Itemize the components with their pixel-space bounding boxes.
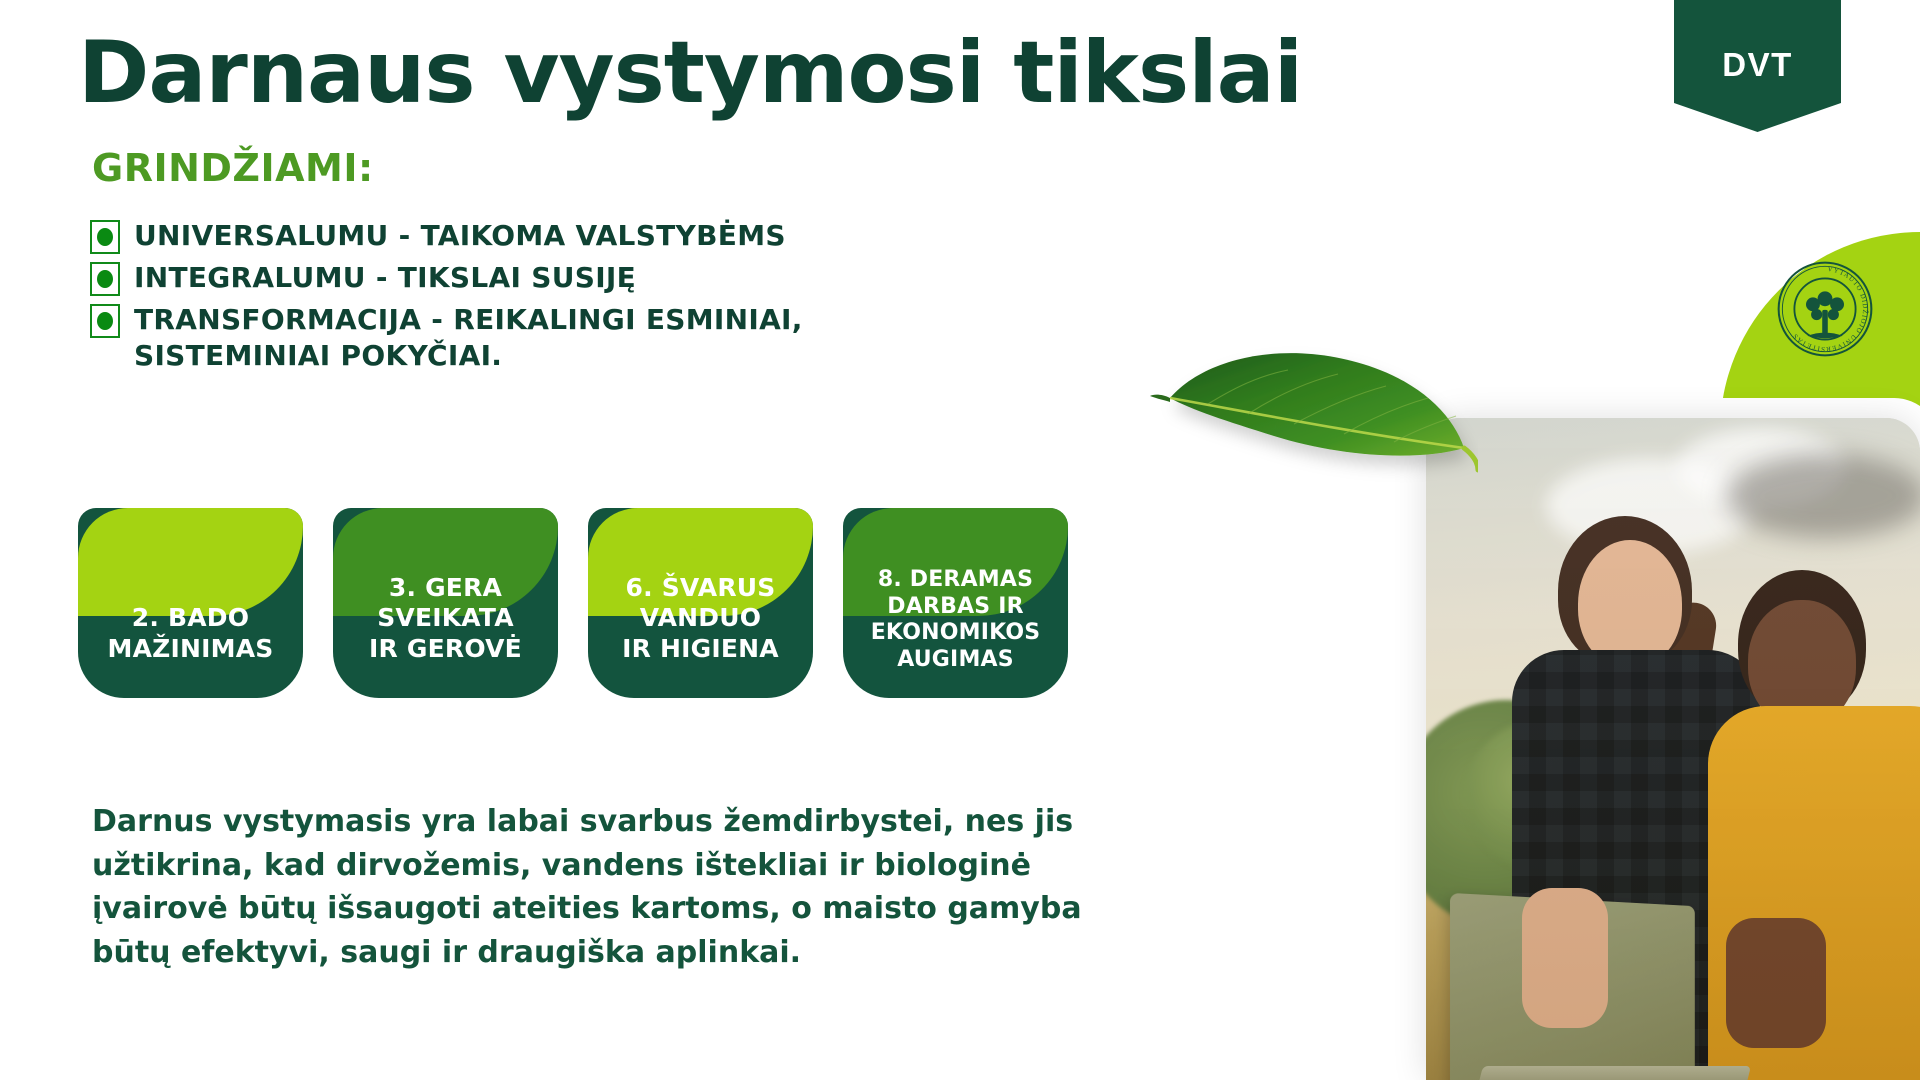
- goal-card-2[interactable]: 2. BADO MAŽINIMAS: [78, 508, 303, 698]
- list-item: TRANSFORMACIJA - REIKALINGI ESMINIAI, SI…: [90, 302, 990, 374]
- goal-card-3[interactable]: 3. GERA SVEIKATA IR GEROVĖ: [333, 508, 558, 698]
- body-paragraph: Darnus vystymasis yra labai svarbus žemd…: [92, 800, 1082, 974]
- photo-light-overlay: [1426, 418, 1920, 1080]
- goal-card-label: 6. ŠVARUS VANDUO IR HIGIENA: [588, 573, 813, 699]
- list-item-label: INTEGRALUMU - TIKSLAI SUSIJĘ: [134, 260, 636, 296]
- goal-card-label: 3. GERA SVEIKATA IR GEROVĖ: [333, 573, 558, 699]
- goal-card-6[interactable]: 6. ŠVARUS VANDUO IR HIGIENA: [588, 508, 813, 698]
- page-subtitle: GRINDŽIAMI:: [92, 146, 374, 190]
- list-item: INTEGRALUMU - TIKSLAI SUSIJĘ: [90, 260, 990, 296]
- goal-card-label: 2. BADO MAŽINIMAS: [78, 603, 303, 698]
- goal-card-label: 8. DERAMAS DARBAS IR EKONOMIKOS AUGIMAS: [843, 567, 1068, 698]
- green-dot-square-icon: [90, 304, 120, 338]
- green-dot-square-icon: [90, 262, 120, 296]
- photo-card: [1426, 418, 1920, 1080]
- page-title: Darnaus vystymosi tikslai: [78, 28, 1302, 118]
- dvt-badge: DVT: [1674, 0, 1841, 132]
- slide-root: DVT Darnaus vystymosi tikslai GRINDŽIAMI…: [0, 0, 1920, 1080]
- vdu-seal-logo: VYTAUTO DIDŽIOJO UNIVERSITETAS: [1774, 258, 1876, 360]
- list-item: UNIVERSALUMU - TAIKOMA VALSTYBĖMS: [90, 218, 990, 254]
- leaf-photo-decoration: [1148, 336, 1478, 506]
- list-item-label: TRANSFORMACIJA - REIKALINGI ESMINIAI, SI…: [134, 302, 990, 374]
- leaf-shape-icon: [78, 508, 303, 616]
- dvt-badge-label: DVT: [1722, 46, 1793, 84]
- principles-list: UNIVERSALUMU - TAIKOMA VALSTYBĖMS INTEGR…: [90, 218, 990, 380]
- green-dot-square-icon: [90, 220, 120, 254]
- goal-card-8[interactable]: 8. DERAMAS DARBAS IR EKONOMIKOS AUGIMAS: [843, 508, 1068, 698]
- goal-card-list: 2. BADO MAŽINIMAS 3. GERA SVEIKATA IR GE…: [78, 508, 1068, 698]
- list-item-label: UNIVERSALUMU - TAIKOMA VALSTYBĖMS: [134, 218, 786, 254]
